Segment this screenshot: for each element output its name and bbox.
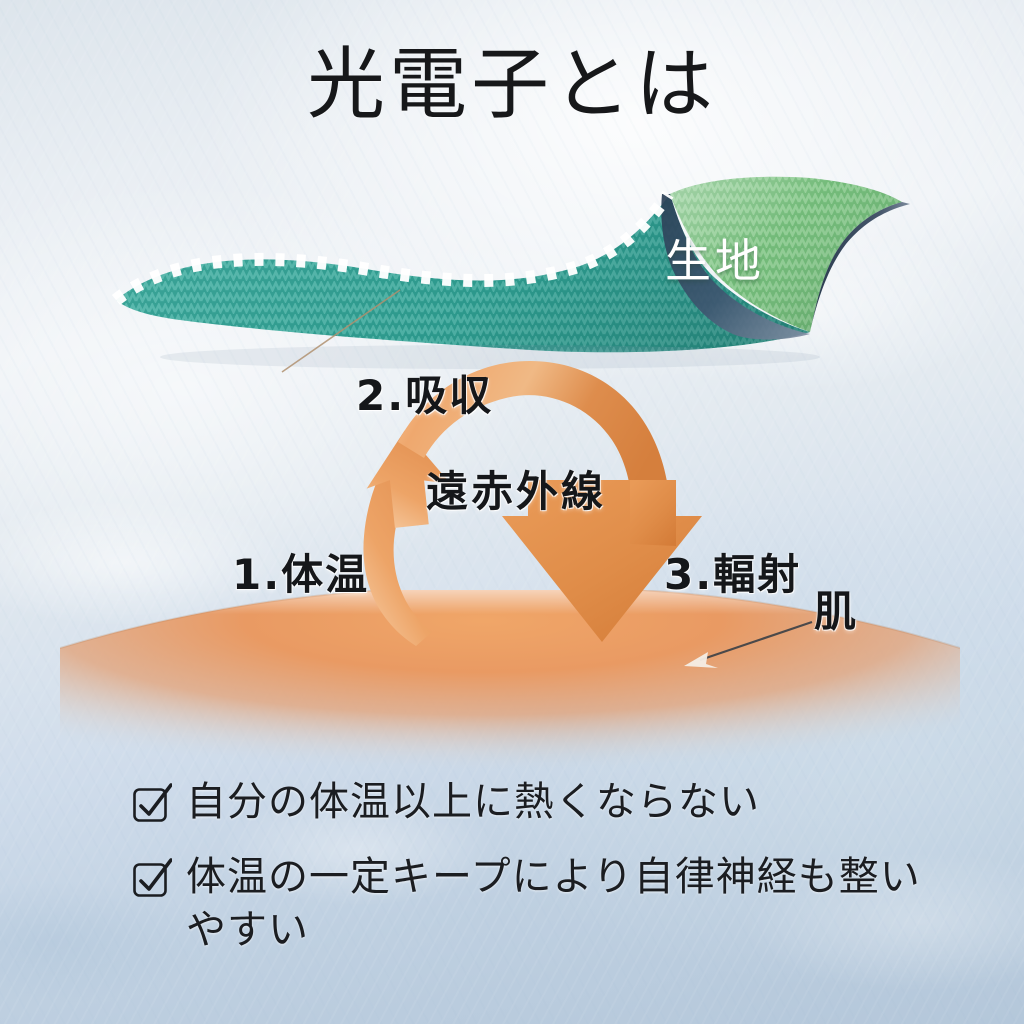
- list-item-label: 体温の一定キープにより自律神経も整いやすい: [186, 851, 932, 957]
- checkbox-checked-icon[interactable]: [132, 783, 172, 823]
- benefits-list: 自分の体温以上に熱くならない 体温の一定キープにより自律神経も整いやすい: [132, 776, 932, 978]
- fabric-label: 生地: [665, 225, 765, 291]
- list-item[interactable]: 体温の一定キープにより自律神経も整いやすい: [132, 851, 932, 957]
- list-item-label: 自分の体温以上に熱くならない: [186, 776, 760, 829]
- annotation-skin: 肌: [814, 578, 858, 639]
- annotation-absorb: 2.吸収: [356, 362, 493, 423]
- annotation-body-temp: 1.体温: [232, 541, 369, 602]
- annotation-far-infrared: 遠赤外線: [426, 458, 606, 519]
- annotation-radiation: 3.輻射: [664, 541, 801, 602]
- page-title: 光電子とは: [0, 46, 1024, 124]
- infographic-canvas: 光電子とは: [0, 0, 1024, 1024]
- checkbox-checked-icon[interactable]: [132, 858, 172, 898]
- list-item[interactable]: 自分の体温以上に熱くならない: [132, 776, 932, 829]
